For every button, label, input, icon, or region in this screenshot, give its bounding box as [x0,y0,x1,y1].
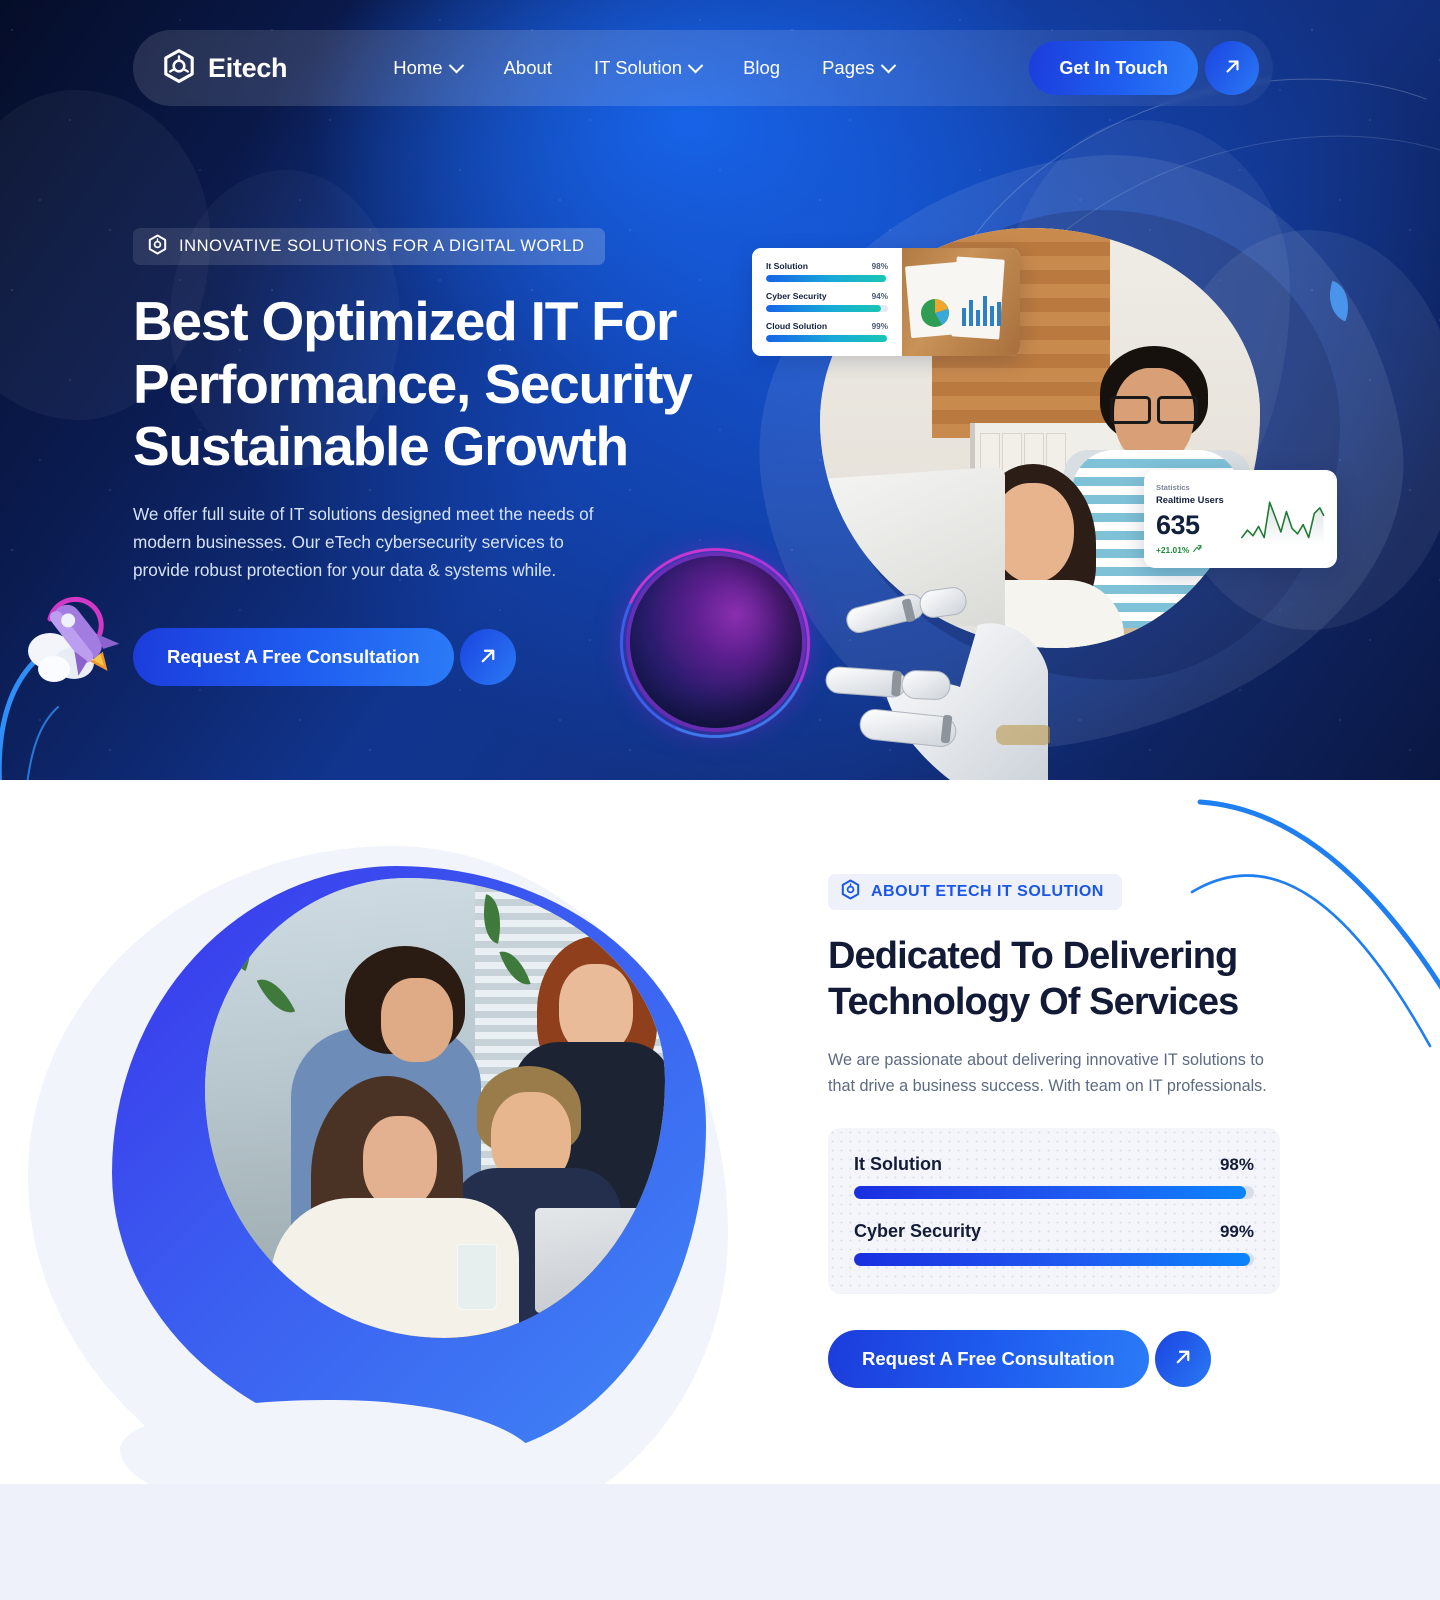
nav-item-blog[interactable]: Blog [743,57,780,79]
about-request-consultation-button[interactable]: Request A Free Consultation [828,1330,1149,1388]
users-card-number: 635 [1156,512,1240,539]
bottom-strip [0,1484,1440,1600]
about-section: ABOUT ETECH IT SOLUTION Dedicated To Del… [0,780,1440,1484]
nav-item-it-solution[interactable]: IT Solution [594,57,701,79]
skill-row: It Solution 98% [854,1154,1254,1199]
about-skills-card: It Solution 98% Cyber Security 99% [828,1128,1280,1294]
nav-item-pages[interactable]: Pages [822,57,893,79]
chevron-down-icon [448,57,464,73]
nav-item-label: About [504,57,552,79]
about-badge: ABOUT ETECH IT SOLUTION [828,874,1122,910]
nav-item-label: Pages [822,57,874,79]
stat-label: Cloud Solution [766,321,827,331]
nav-item-label: IT Solution [594,57,682,79]
get-in-touch-button[interactable]: Get In Touch [1029,41,1198,95]
stat-value: 98% [872,262,888,271]
hero-badge: INNOVATIVE SOLUTIONS FOR A DIGITAL WORLD [133,228,605,265]
chevron-down-icon [880,57,896,73]
skill-label: It Solution [854,1154,942,1175]
request-consultation-button[interactable]: Request A Free Consultation [133,628,454,686]
skill-progress-track [854,1186,1254,1199]
hero-stats-card: It Solution 98% Cyber Security 94% Cloud… [752,248,1020,356]
nav-item-label: Home [393,57,442,79]
arrow-up-right-icon [1172,1346,1194,1371]
hexagon-logo-icon [840,879,861,905]
robot-hand-illustration [800,575,1050,780]
about-badge-label: ABOUT ETECH IT SOLUTION [871,883,1104,901]
request-consultation-arrow-button[interactable] [460,629,516,685]
navbar: Eitech Home About IT Solution Blog Pages [133,30,1273,106]
skill-label: Cyber Security [854,1221,981,1242]
users-card-title: Realtime Users [1156,494,1240,505]
realtime-users-sparkline [1240,489,1325,549]
rocket-illustration [0,555,172,780]
stat-row: Cloud Solution 99% [766,321,902,342]
stat-label: Cyber Security [766,291,827,301]
hero-cta-group: Request A Free Consultation [133,628,693,686]
globe-illustration [630,556,802,728]
trend-up-icon [1192,544,1202,556]
stat-value: 94% [872,292,888,301]
skill-value: 98% [1220,1155,1254,1175]
skill-row: Cyber Security 99% [854,1221,1254,1266]
hero-badge-label: INNOVATIVE SOLUTIONS FOR A DIGITAL WORLD [179,237,585,256]
about-description: We are passionate about delivering innov… [828,1047,1270,1099]
chevron-down-icon [688,57,704,73]
skill-progress-track [854,1253,1254,1266]
hero-section: Eitech Home About IT Solution Blog Pages [0,0,1440,780]
about-title: Dedicated To Delivering Technology Of Se… [828,934,1298,1025]
about-request-consultation-arrow-button[interactable] [1155,1331,1211,1387]
hero-title-line-2: Performance, Security [133,353,692,415]
about-photo [205,878,665,1338]
hero-stats-bars: It Solution 98% Cyber Security 94% Cloud… [752,248,902,356]
hexagon-logo-icon [147,234,168,260]
stat-progress-track [766,275,888,282]
skill-value: 99% [1220,1222,1254,1242]
nav-item-about[interactable]: About [504,57,552,79]
page-title: Best Optimized IT For Performance, Secur… [133,290,693,478]
brand-logo[interactable]: Eitech [133,48,287,89]
about-cta-group: Request A Free Consultation [828,1330,1298,1388]
stat-label: It Solution [766,261,808,271]
nav-links: Home About IT Solution Blog Pages [393,57,893,79]
about-content: ABOUT ETECH IT SOLUTION Dedicated To Del… [828,874,1298,1388]
arrow-up-right-icon [1222,56,1243,80]
get-in-touch-arrow-button[interactable] [1205,41,1259,95]
users-card-kicker: Statistics [1156,483,1240,492]
stat-row: Cyber Security 94% [766,291,902,312]
hero-content: INNOVATIVE SOLUTIONS FOR A DIGITAL WORLD… [133,228,693,686]
brand-name: Eitech [208,53,287,84]
stat-progress-track [766,305,888,312]
nav-cta-group: Get In Touch [1029,41,1273,95]
hero-title-line-1: Best Optimized IT For [133,290,676,352]
hexagon-logo-icon [161,48,197,89]
arrow-up-right-icon [477,645,499,670]
nav-item-home[interactable]: Home [393,57,461,79]
about-title-line-1: Dedicated To Delivering [828,935,1237,977]
stat-value: 99% [872,322,888,331]
rocket-trail-icon [0,575,162,780]
stat-row: It Solution 98% [766,261,902,282]
realtime-users-card: Statistics Realtime Users 635 +21.01% [1144,470,1337,568]
hero-title-line-3: Sustainable Growth [133,415,628,477]
hero-stats-thumbnail [902,248,1020,356]
about-title-line-2: Technology Of Services [828,981,1238,1023]
hero-description: We offer full suite of IT solutions desi… [133,500,605,584]
stat-progress-track [766,335,888,342]
users-card-delta-value: +21.01% [1156,545,1189,555]
nav-item-label: Blog [743,57,780,79]
users-card-delta: +21.01% [1156,544,1240,556]
